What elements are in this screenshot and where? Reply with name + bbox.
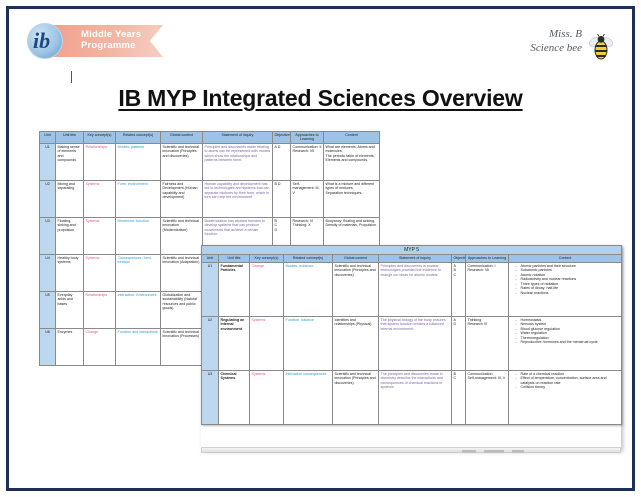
cell-global-context: Scientific and technical innovation (Pri… bbox=[333, 262, 379, 316]
cell-atl: Communication Self-management: III, V bbox=[466, 370, 509, 424]
cell-unit: U5 bbox=[40, 291, 56, 328]
cell-key-concept: Systems bbox=[250, 316, 284, 370]
col-header-related-concept-s: Related concept(s) bbox=[284, 255, 333, 262]
cell-related-concept: Form, environment bbox=[116, 180, 161, 217]
cell-key-concept: Systems bbox=[84, 254, 116, 291]
col-header-statement-of-inquiry: Statement of inquiry bbox=[379, 255, 452, 262]
ib-ribbon-line2: Programme bbox=[53, 40, 163, 51]
cell-unit: U3 bbox=[202, 370, 219, 424]
cell-statement-of-inquiry: Human capability and development has led… bbox=[203, 180, 273, 217]
col-header-approaches-to-learning: Approaches to Learning bbox=[291, 132, 324, 144]
cell-related-concept: Interaction consequences bbox=[284, 370, 333, 424]
ib-myp-logo: Middle Years Programme ib bbox=[23, 21, 163, 61]
cell-unit-title: Regulating an internal environment bbox=[219, 316, 250, 370]
col-header-global-context: Global context bbox=[161, 132, 203, 144]
cell-unit-title: Healthy body systems bbox=[56, 254, 84, 291]
table2-header-row: UnitUnit titleKey concept(s)Related conc… bbox=[202, 255, 622, 262]
col-header-unit: Unit bbox=[202, 255, 219, 262]
cell-statement-of-inquiry: The principles and discoveries made in c… bbox=[379, 370, 452, 424]
cell-objectives: B C bbox=[452, 370, 466, 424]
table-row: U2Mixing and separatingSystemsForm, envi… bbox=[40, 180, 380, 217]
text-cursor bbox=[71, 71, 72, 83]
ib-mark-text: ib bbox=[33, 27, 50, 55]
cell-key-concept: Systems bbox=[84, 180, 116, 217]
cell-key-concept: Relationships bbox=[84, 291, 116, 328]
col-header-related-concept-s: Related concept(s) bbox=[116, 132, 161, 144]
ib-ribbon-line1: Middle Years bbox=[53, 25, 163, 40]
myp5-table: MYP 5 UnitUnit titleKey concept(s)Relate… bbox=[201, 245, 622, 425]
cell-key-concept: Relationships bbox=[84, 143, 116, 180]
cell-objectives: A B C bbox=[452, 262, 466, 316]
ib-ribbon: Middle Years Programme bbox=[53, 25, 163, 57]
cell-unit: U1 bbox=[202, 262, 219, 316]
cell-unit-title: Enzymes bbox=[56, 328, 84, 365]
cell-content: Atomic particles and their structureSuba… bbox=[509, 262, 622, 316]
cell-global-context: Globalization and sustainability (Natura… bbox=[161, 291, 203, 328]
cell-key-concept: Change bbox=[250, 262, 284, 316]
cell-unit-title: Mixing and separating bbox=[56, 180, 84, 217]
col-header-key-concept-s: Key concept(s) bbox=[84, 132, 116, 144]
cell-unit: U3 bbox=[40, 217, 56, 254]
col-header-unit: Unit bbox=[40, 132, 56, 144]
cell-global-context: Scientific and technical innovation (Pri… bbox=[333, 370, 379, 424]
cell-statement-of-inquiry: The physical biology of the body ensures… bbox=[379, 316, 452, 370]
col-header-objectives: Objectives bbox=[273, 132, 291, 144]
cell-content: What are elements, Atoms and molecules, … bbox=[324, 143, 380, 180]
cell-related-concept: Function, balance bbox=[284, 316, 333, 370]
cell-content: HomeostasisNervous systemBlood glucose r… bbox=[509, 316, 622, 370]
cell-related-concept: Function and interactions bbox=[116, 328, 161, 365]
cell-objectives: A D bbox=[273, 143, 291, 180]
cell-unit: U2 bbox=[202, 316, 219, 370]
slide-canvas: Middle Years Programme ib Miss. B Scienc… bbox=[6, 6, 635, 491]
cell-global-context: Identities and relationships (Physical) bbox=[333, 316, 379, 370]
col-header-objectives: Objectives bbox=[452, 255, 466, 262]
content-item: Collision theory bbox=[517, 385, 620, 389]
cell-related-concept: Interaction, Environment bbox=[116, 291, 161, 328]
bee-icon bbox=[588, 33, 614, 63]
content-item: Reproductive hormones and the menstrual … bbox=[517, 340, 620, 344]
content-item: Nuclear reactions. bbox=[517, 291, 620, 295]
cell-objectives: B D bbox=[273, 180, 291, 217]
table-row: U2Regulating an internal environmentSyst… bbox=[202, 316, 622, 370]
table1-header-row: UnitUnit titleKey concept(s)Related conc… bbox=[40, 132, 380, 144]
cell-unit: U2 bbox=[40, 180, 56, 217]
myp5-banner: MYP 5 bbox=[202, 246, 622, 255]
cell-unit-title: Chemical Systems bbox=[219, 370, 250, 424]
cell-key-concept: Change bbox=[84, 328, 116, 365]
col-header-content: Content bbox=[509, 255, 622, 262]
table-row: U1Making sense of elements and compounds… bbox=[40, 143, 380, 180]
cell-statement-of-inquiry: Principles and discoveries in nuclear te… bbox=[379, 262, 452, 316]
cell-content: What is a mixture and different types of… bbox=[324, 180, 380, 217]
cell-global-context: Scientific and technical innovation (Pro… bbox=[161, 328, 203, 365]
cell-key-concept: Systems bbox=[84, 217, 116, 254]
col-header-approaches-to-learning: Approaches to Learning bbox=[466, 255, 509, 262]
table-row: U1Fundamental ParticlesChangeModels, evi… bbox=[202, 262, 622, 316]
cell-atl: Self-management: III, V bbox=[291, 180, 324, 217]
cell-unit: U1 bbox=[40, 143, 56, 180]
col-header-content: Content bbox=[324, 132, 380, 144]
cell-global-context: Scientific and technical innovation (Pri… bbox=[161, 143, 203, 180]
col-header-key-concept-s: Key concept(s) bbox=[250, 255, 284, 262]
col-header-unit-title: Unit title bbox=[56, 132, 84, 144]
cell-unit-title: Floating, sinking and propulsion bbox=[56, 217, 84, 254]
cell-statement-of-inquiry: Principles and discoveries made relating… bbox=[203, 143, 273, 180]
brand-block: Miss. B Science bee bbox=[466, 27, 616, 75]
cell-content: Rate of a chemical reactionEffect of tem… bbox=[509, 370, 622, 424]
cell-related-concept: Models, evidence bbox=[284, 262, 333, 316]
cell-unit-title: Everyday acids and bases bbox=[56, 291, 84, 328]
col-header-statement-of-inquiry: Statement of inquiry bbox=[203, 132, 273, 144]
cell-unit: U6 bbox=[40, 328, 56, 365]
cell-related-concept: Models, patterns bbox=[116, 143, 161, 180]
cell-global-context: Scientific and technical innovation (Mod… bbox=[161, 217, 203, 254]
cell-atl: Thinking Research VI bbox=[466, 316, 509, 370]
cell-global-context: Fairness and Development (Human capabili… bbox=[161, 180, 203, 217]
cell-atl: Communication: II Research: VII bbox=[291, 143, 324, 180]
cell-atl: Communication: I Research: VII bbox=[466, 262, 509, 316]
cell-global-context: Scientific and technical innovation (Ada… bbox=[161, 254, 203, 291]
cell-related-concept: Consequences, form, function bbox=[116, 254, 161, 291]
cell-key-concept: Systems bbox=[250, 370, 284, 424]
cell-unit-title: Fundamental Particles bbox=[219, 262, 250, 316]
col-header-global-context: Global context bbox=[333, 255, 379, 262]
page-title: IB MYP Integrated Sciences Overview bbox=[9, 85, 632, 112]
cell-related-concept: Movement, function bbox=[116, 217, 161, 254]
col-header-unit-title: Unit title bbox=[219, 255, 250, 262]
table-row: U3Chemical SystemsSystemsInteraction con… bbox=[202, 370, 622, 424]
cell-unit: U4 bbox=[40, 254, 56, 291]
page-title-text: IB MYP Integrated Sciences Overview bbox=[118, 85, 522, 111]
table2-bottom-strip bbox=[201, 447, 621, 453]
cell-unit-title: Making sense of elements and compounds bbox=[56, 143, 84, 180]
ib-circle-mark: ib bbox=[27, 23, 63, 59]
cell-objectives: A D bbox=[452, 316, 466, 370]
content-item: Effect of temperature, concentration, su… bbox=[517, 376, 620, 385]
